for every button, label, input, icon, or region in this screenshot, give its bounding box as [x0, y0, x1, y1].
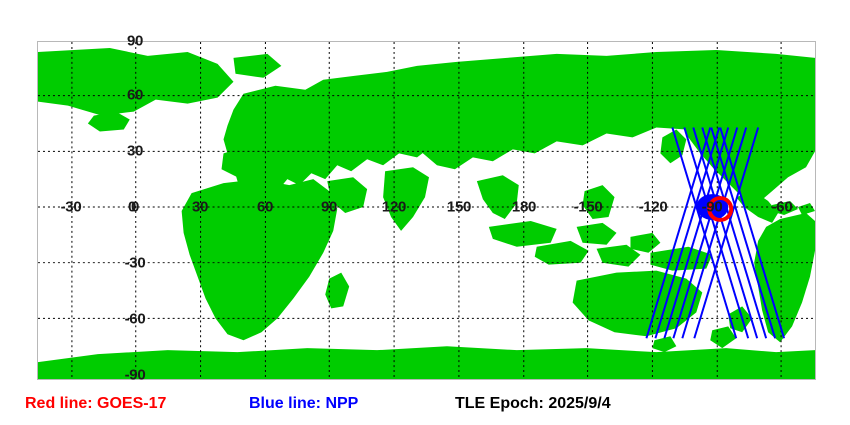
satellite-map-page: -30 0 30 60 90 120 150 180 -150 -120 -90… — [0, 0, 850, 425]
legend-blue-line-npp: Blue line: NPP — [249, 396, 358, 412]
legend-tle-epoch: TLE Epoch: 2025/9/4 — [455, 396, 611, 412]
legend: Red line: GOES-17 Blue line: NPP TLE Epo… — [0, 390, 850, 420]
legend-red-line-goes17: Red line: GOES-17 — [25, 396, 166, 412]
world-map-svg — [38, 42, 815, 379]
world-map-plot-area[interactable] — [37, 41, 816, 380]
land-antarctica — [38, 346, 815, 379]
